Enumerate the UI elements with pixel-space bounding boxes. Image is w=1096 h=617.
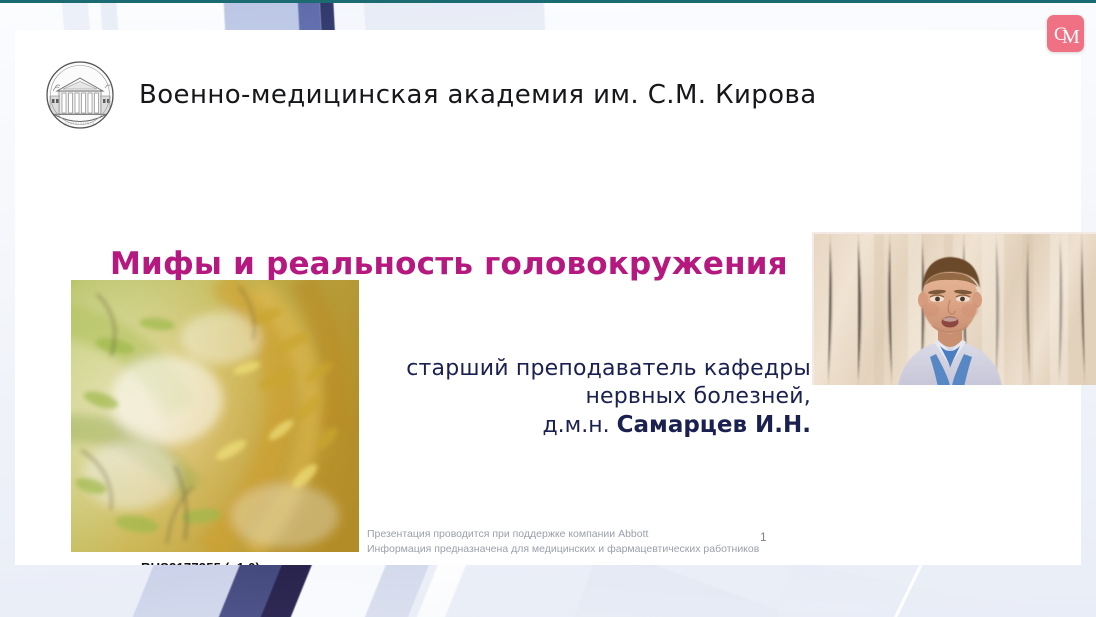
rus-code-label: RUS2177355 (v1.0) — [141, 560, 260, 565]
top-accent-rule — [0, 0, 1096, 3]
cm-monogram-icon: C M — [1051, 19, 1081, 49]
presenter-role-line-2: нервных болезней, — [406, 383, 811, 411]
slide-page-number: 1 — [760, 530, 767, 544]
sponsor-disclaimer: Презентация проводится при поддержке ком… — [367, 527, 759, 557]
academy-name-label: Военно-медицинская академия им. С.М. Кир… — [139, 80, 817, 110]
presenter-degree: д.м.н. — [542, 413, 616, 438]
svg-text:M: M — [1062, 26, 1080, 48]
academy-emblem-icon: |||||||||||||||||| — [43, 58, 117, 132]
presenter-name: Самарцев И.Н. — [617, 412, 811, 438]
decorative-photo — [71, 280, 359, 552]
presenter-role-line-1: старший преподаватель кафедры — [406, 355, 811, 383]
disclaimer-line-2: Информация предназначена для медицинских… — [367, 542, 759, 557]
disclaimer-line-1: Презентация проводится при поддержке ком… — [367, 527, 759, 542]
cm-logo-badge[interactable]: C M — [1047, 15, 1084, 52]
slide-header: |||||||||||||||||| Военно-медицинская ак… — [43, 58, 817, 132]
presenter-name-line: д.м.н. Самарцев И.Н. — [406, 411, 811, 440]
webinar-viewport: |||||||||||||||||| Военно-медицинская ак… — [0, 0, 1096, 617]
presenter-block: старший преподаватель кафедры нервных бо… — [406, 355, 811, 441]
presenter-video-tile[interactable] — [812, 232, 1096, 385]
backdrop-ribbon — [748, 560, 1096, 617]
slide-title: Мифы и реальность головокружения — [110, 246, 788, 282]
